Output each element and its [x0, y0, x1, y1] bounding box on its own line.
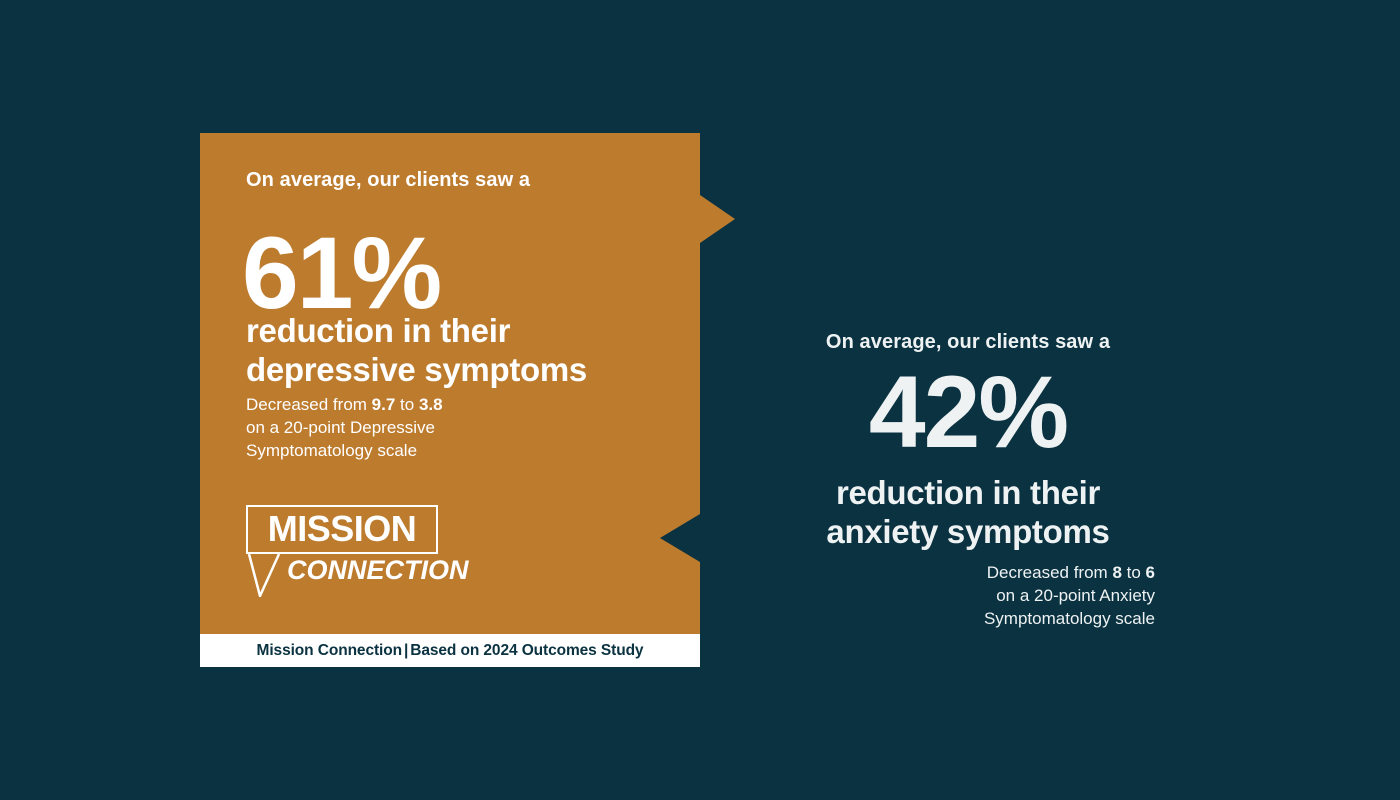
anxiety-headline-line1: reduction in their	[780, 474, 1156, 513]
logo-wordmark-mission: MISSION	[246, 505, 438, 554]
anxiety-subtext-line3: Symptomatology scale	[780, 608, 1155, 631]
logo-wordmark-connection: CONNECTION	[287, 557, 469, 584]
mission-connection-logo: MISSION CONNECTION	[246, 505, 444, 597]
depression-value-to: 3.8	[419, 395, 443, 414]
depression-subtext-line2: on a 20-point Depressive	[246, 417, 443, 440]
anxiety-value-to: 6	[1146, 563, 1155, 582]
footer-brand: Mission Connection	[257, 642, 402, 659]
depression-subtext-line3: Symptomatology scale	[246, 440, 443, 463]
depression-subtext: Decreased from 9.7 to 3.8 on a 20-point …	[246, 394, 443, 463]
depression-value-from: 9.7	[372, 395, 396, 414]
footer-source: Based on 2024 Outcomes Study	[410, 642, 643, 659]
infographic-canvas: On average, our clients saw a 61% reduct…	[0, 0, 1400, 800]
arrow-right-pointer-icon	[700, 195, 735, 243]
anxiety-headline-line2: anxiety symptoms	[780, 513, 1156, 552]
anxiety-subtext-mid: to	[1122, 563, 1146, 582]
depression-stat-card: On average, our clients saw a 61% reduct…	[200, 133, 700, 634]
depression-subtext-prefix: Decreased from	[246, 395, 372, 414]
source-footer-bar: Mission Connection|Based on 2024 Outcome…	[200, 634, 700, 667]
anxiety-percentage: 42%	[780, 361, 1156, 463]
anxiety-eyebrow-text: On average, our clients saw a	[780, 330, 1156, 354]
anxiety-subtext-line1: Decreased from 8 to 6	[780, 562, 1155, 585]
speech-bubble-tail-icon	[246, 552, 282, 597]
footer-divider: |	[402, 642, 410, 659]
arrow-left-notch-icon	[660, 514, 700, 562]
depression-subtext-line1: Decreased from 9.7 to 3.8	[246, 394, 443, 417]
anxiety-subtext: Decreased from 8 to 6 on a 20-point Anxi…	[780, 562, 1156, 631]
depression-headline-line2: depressive symptoms	[246, 351, 587, 390]
depression-headline: reduction in their depressive symptoms	[246, 312, 587, 389]
anxiety-value-from: 8	[1112, 563, 1121, 582]
anxiety-stat-block: On average, our clients saw a 42% reduct…	[780, 330, 1156, 631]
footer-text: Mission Connection|Based on 2024 Outcome…	[257, 642, 644, 660]
depression-subtext-mid: to	[395, 395, 419, 414]
anxiety-headline: reduction in their anxiety symptoms	[780, 474, 1156, 551]
anxiety-subtext-line2: on a 20-point Anxiety	[780, 585, 1155, 608]
depression-percentage: 61%	[242, 222, 440, 324]
card-eyebrow-text: On average, our clients saw a	[246, 169, 530, 192]
anxiety-subtext-prefix: Decreased from	[987, 563, 1113, 582]
depression-headline-line1: reduction in their	[246, 312, 587, 351]
